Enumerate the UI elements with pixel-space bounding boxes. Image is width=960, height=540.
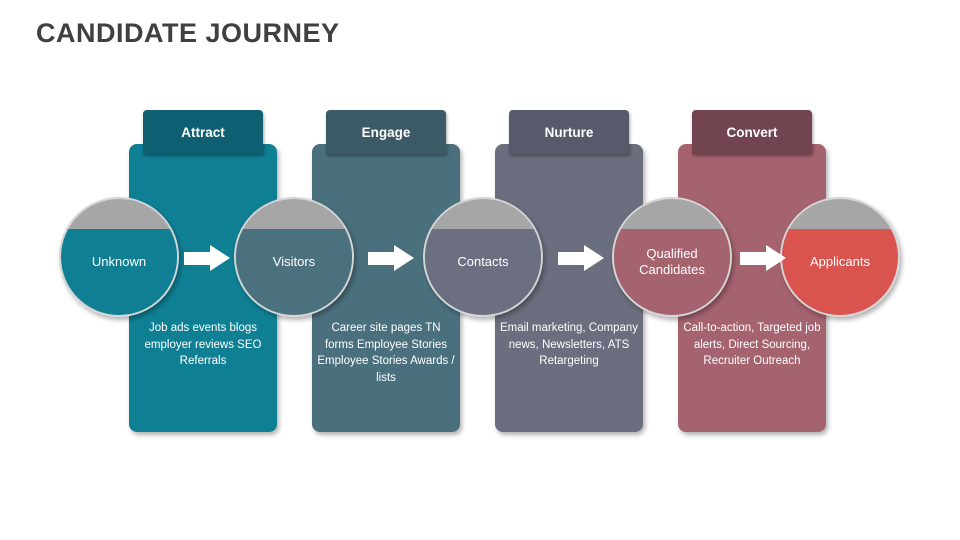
arrow-convert-to-applicants xyxy=(740,245,786,271)
node-label-qualified-candidates: Qualified Candidates xyxy=(614,199,730,315)
arrow-shaft xyxy=(740,252,768,265)
arrow-shaft xyxy=(368,252,396,265)
arrow-shaft xyxy=(558,252,586,265)
node-label-unknown: Unknown xyxy=(61,199,177,315)
arrow-head-icon xyxy=(584,245,604,271)
stage-description-nurture: Email marketing, Company news, Newslette… xyxy=(499,320,639,370)
arrow-shaft xyxy=(184,252,212,265)
arrow-head-icon xyxy=(766,245,786,271)
arrow-head-icon xyxy=(210,245,230,271)
arrow-engage-to-nurture xyxy=(368,245,414,271)
arrow-nurture-to-convert xyxy=(558,245,604,271)
stage-header-engage[interactable]: Engage xyxy=(326,110,446,154)
stage-header-attract[interactable]: Attract xyxy=(143,110,263,154)
node-visitors[interactable]: Visitors xyxy=(234,197,354,317)
stage-description-convert: Call-to-action, Targeted job alerts, Dir… xyxy=(682,320,822,370)
stage-header-nurture[interactable]: Nurture xyxy=(509,110,629,154)
node-unknown[interactable]: Unknown xyxy=(59,197,179,317)
node-qualified-candidates[interactable]: Qualified Candidates xyxy=(612,197,732,317)
node-label-visitors: Visitors xyxy=(236,199,352,315)
node-label-applicants: Applicants xyxy=(782,199,898,315)
arrow-attract-to-engage xyxy=(184,245,230,271)
stage-description-engage: Career site pages TN forms Employee Stor… xyxy=(316,320,456,386)
stage-header-convert[interactable]: Convert xyxy=(692,110,812,154)
stage-description-attract: Job ads events blogs employer reviews SE… xyxy=(133,320,273,370)
node-label-contacts: Contacts xyxy=(425,199,541,315)
page-title: CANDIDATE JOURNEY xyxy=(36,18,340,49)
node-applicants[interactable]: Applicants xyxy=(780,197,900,317)
arrow-head-icon xyxy=(394,245,414,271)
node-contacts[interactable]: Contacts xyxy=(423,197,543,317)
